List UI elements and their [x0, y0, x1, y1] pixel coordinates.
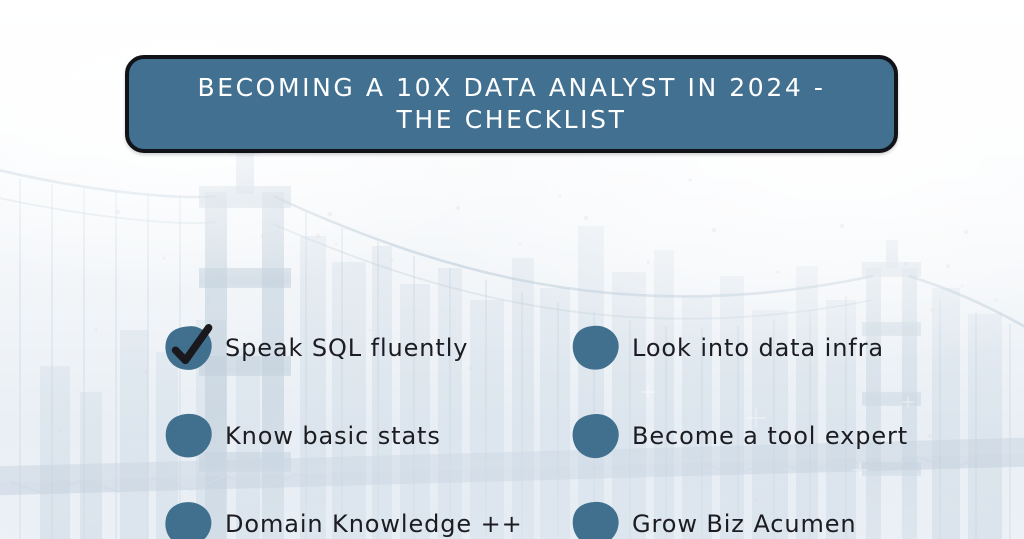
checklist-item-label: Become a tool expert	[632, 424, 908, 448]
checklist-item-label: Look into data infra	[632, 336, 884, 360]
checkbox-empty-icon[interactable]	[572, 501, 620, 539]
checklist-item-label: Grow Biz Acumen	[632, 512, 857, 536]
checkbox-empty-icon[interactable]	[165, 413, 213, 459]
checklist-item-speak-sql-fluently[interactable]: Speak SQL fluently	[165, 322, 468, 374]
checklist-item-become-a-tool-expert[interactable]: Become a tool expert	[572, 410, 908, 462]
poster-canvas: Becoming a 10x Data Analyst in 2024 - Th…	[0, 0, 1024, 539]
checklist-item-label: Domain Knowledge ++	[225, 512, 523, 536]
checkbox-empty-icon[interactable]	[572, 413, 620, 459]
checklist: Speak SQL fluently Know basic stats Doma…	[0, 0, 1024, 539]
checkbox-checked-icon[interactable]	[165, 325, 213, 371]
checkbox-empty-icon[interactable]	[572, 325, 620, 371]
checklist-item-know-basic-stats[interactable]: Know basic stats	[165, 410, 441, 462]
checklist-item-grow-biz-acumen[interactable]: Grow Biz Acumen	[572, 498, 857, 539]
checkbox-empty-icon[interactable]	[165, 501, 213, 539]
checklist-item-label: Know basic stats	[225, 424, 441, 448]
checklist-item-label: Speak SQL fluently	[225, 336, 468, 360]
checklist-item-look-into-data-infra[interactable]: Look into data infra	[572, 322, 884, 374]
checklist-item-domain-knowledge[interactable]: Domain Knowledge ++	[165, 498, 523, 539]
